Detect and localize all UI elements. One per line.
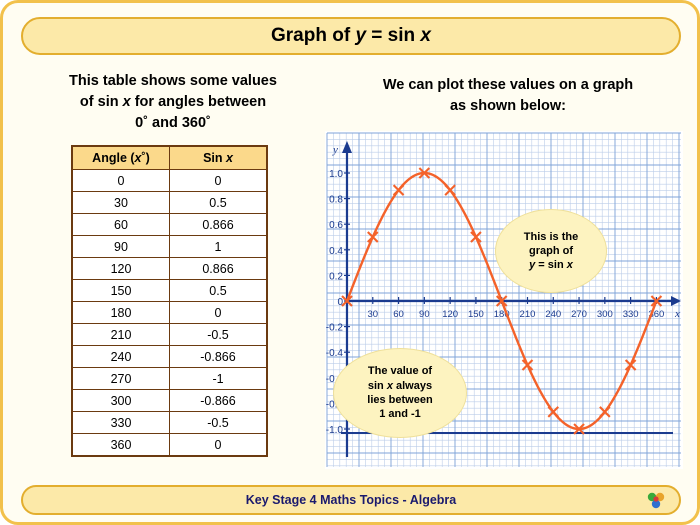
y-axis-label: y (332, 144, 338, 156)
callout1-line1: This is the (524, 231, 578, 243)
graph-heading: We can plot these values on a graph as s… (328, 75, 688, 117)
table-row: 300-0.866 (72, 390, 267, 412)
callout2-line1: The value of (368, 365, 432, 377)
x-tick-label: 330 (623, 309, 639, 320)
callout1-line2: graph of (529, 245, 573, 257)
table-header-angle: Angle (x˚) (72, 146, 170, 170)
cell-sinx: 0.5 (170, 192, 268, 214)
cell-angle: 0 (72, 170, 170, 192)
callout-graph-of: This is the graph of y = sin x (495, 209, 607, 293)
x-tick-label: 60 (393, 309, 404, 320)
values-table-wrapper: Angle (x˚) Sin x 00300.5600.8669011200.8… (71, 145, 268, 457)
cell-sinx: 0.866 (170, 258, 268, 280)
cell-angle: 270 (72, 368, 170, 390)
cell-sinx: -0.5 (170, 412, 268, 434)
cell-angle: 300 (72, 390, 170, 412)
callout2-line4: 1 and -1 (379, 408, 421, 420)
x-tick-label: 240 (545, 309, 561, 320)
table-heading-line-2: of sin x for angles between (23, 92, 323, 113)
cell-angle: 210 (72, 324, 170, 346)
footer-bar: Key Stage 4 Maths Topics - Algebra (21, 485, 681, 515)
table-row: 00 (72, 170, 267, 192)
x-tick-label: 120 (442, 309, 458, 320)
table-row: 901 (72, 236, 267, 258)
cell-angle: 30 (72, 192, 170, 214)
cell-sinx: 0 (170, 434, 268, 457)
footer-text: Key Stage 4 Maths Topics - Algebra (246, 493, 456, 507)
table-row: 330-0.5 (72, 412, 267, 434)
y-tick-label: -0.2 (326, 323, 344, 334)
x-tick-label: 30 (367, 309, 378, 320)
x-tick-label: 150 (468, 309, 484, 320)
table-row: 1200.866 (72, 258, 267, 280)
title-bar: Graph of y = sin x (21, 17, 681, 55)
cell-angle: 330 (72, 412, 170, 434)
cell-angle: 60 (72, 214, 170, 236)
callout2-line2: sin x always (368, 380, 432, 392)
y-tick-label: -1.0 (326, 425, 344, 436)
table-header-sinx: Sin x (170, 146, 268, 170)
callout2-line3: lies between (367, 394, 432, 406)
table-heading: This table shows some values of sin x fo… (23, 71, 323, 134)
table-row: 300.5 (72, 192, 267, 214)
cell-sinx: 0.5 (170, 280, 268, 302)
x-tick-label: 210 (520, 309, 536, 320)
cell-angle: 360 (72, 434, 170, 457)
table-body: 00300.5600.8669011200.8661500.51800210-0… (72, 170, 267, 457)
cell-angle: 240 (72, 346, 170, 368)
cell-angle: 150 (72, 280, 170, 302)
cell-sinx: -0.866 (170, 390, 268, 412)
cell-sinx: 0.866 (170, 214, 268, 236)
x-axis-label: x (674, 308, 680, 320)
table-row: 600.866 (72, 214, 267, 236)
callout1-line3: y = sin x (529, 259, 573, 271)
cell-angle: 90 (72, 236, 170, 258)
cell-angle: 180 (72, 302, 170, 324)
page-title: Graph of y = sin x (271, 25, 431, 47)
y-tick-label: -0.4 (326, 348, 344, 359)
graph-heading-line-2: as shown below: (328, 96, 688, 117)
table-row: 210-0.5 (72, 324, 267, 346)
y-tick-label: 0.6 (329, 220, 343, 231)
logo-icon (645, 490, 667, 510)
values-table: Angle (x˚) Sin x 00300.5600.8669011200.8… (71, 145, 268, 457)
x-tick-label: 270 (571, 309, 587, 320)
cell-sinx: -0.5 (170, 324, 268, 346)
x-tick-label: 90 (419, 309, 430, 320)
cell-angle: 120 (72, 258, 170, 280)
slide-page: Graph of y = sin x This table shows some… (0, 0, 700, 525)
y-tick-label: 1.0 (329, 169, 343, 180)
table-row: 3600 (72, 434, 267, 457)
table-row: 240-0.866 (72, 346, 267, 368)
x-tick-label: 300 (597, 309, 613, 320)
table-row: 1800 (72, 302, 267, 324)
y-tick-label: 0.2 (329, 271, 343, 282)
y-tick-label: 0.8 (329, 195, 343, 206)
callout-value-range: The value of sin x always lies between 1… (333, 348, 467, 438)
cell-sinx: 0 (170, 170, 268, 192)
table-row: 1500.5 (72, 280, 267, 302)
table-row: 270-1 (72, 368, 267, 390)
cell-sinx: -1 (170, 368, 268, 390)
table-heading-line-1: This table shows some values (23, 71, 323, 92)
graph-heading-line-1: We can plot these values on a graph (328, 75, 688, 96)
table-header-row: Angle (x˚) Sin x (72, 146, 267, 170)
y-tick-label: 0.4 (329, 246, 343, 257)
cell-sinx: -0.866 (170, 346, 268, 368)
cell-sinx: 0 (170, 302, 268, 324)
table-heading-line-3: 0˚ and 360˚ (23, 113, 323, 134)
cell-sinx: 1 (170, 236, 268, 258)
